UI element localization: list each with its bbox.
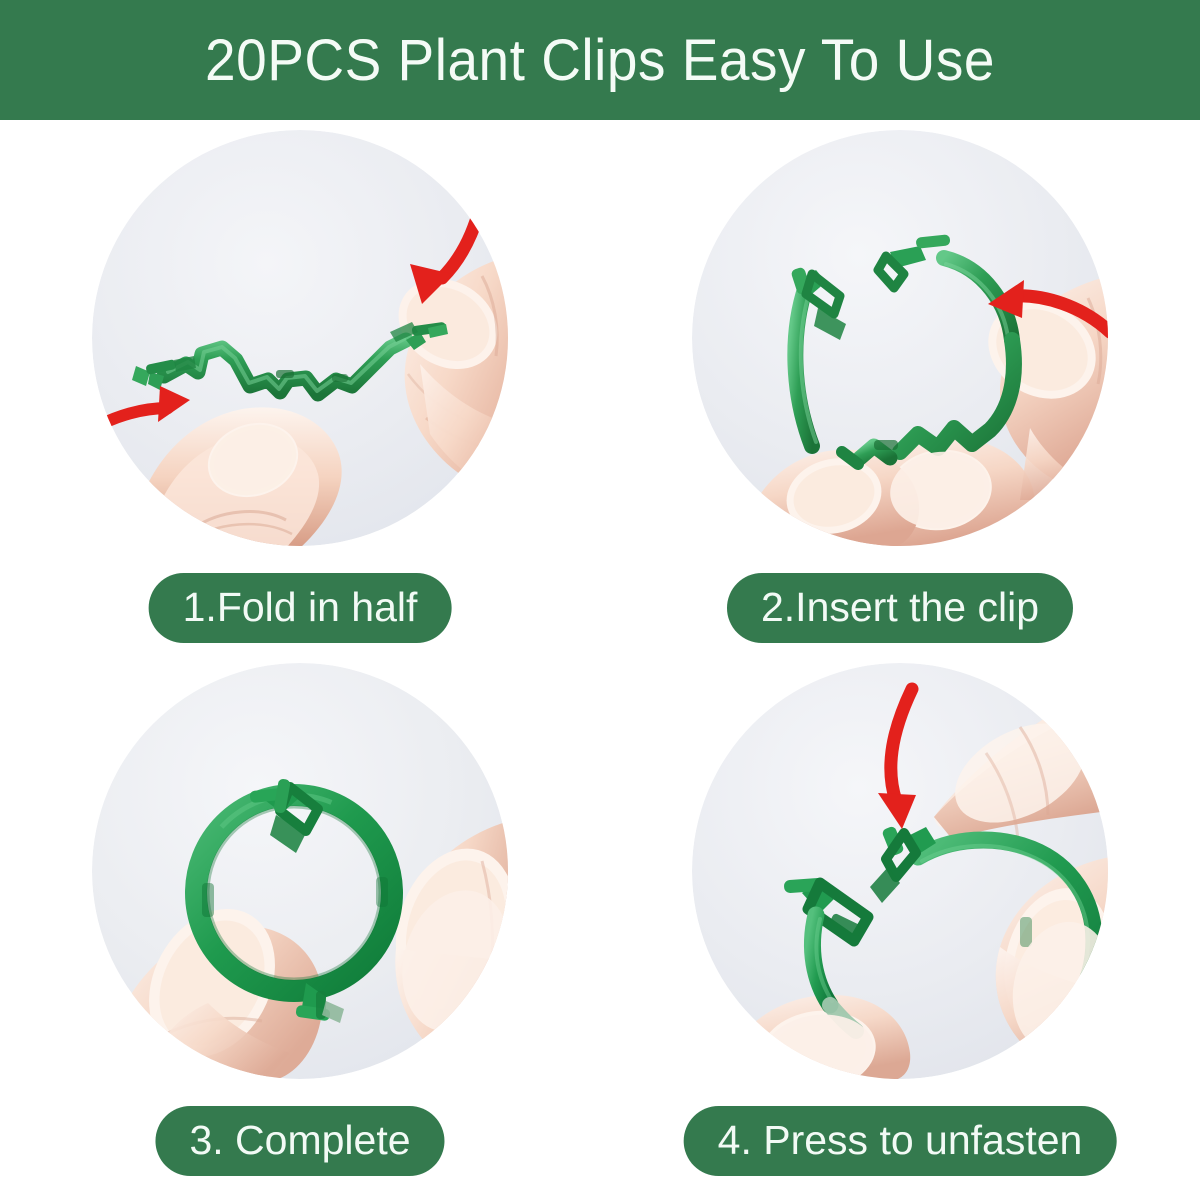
photo-content-2	[692, 130, 1110, 548]
step-card-2: 2.Insert the clip	[600, 120, 1200, 653]
photo-content-1	[92, 130, 510, 548]
step-card-1: 1.Fold in half	[0, 120, 600, 653]
step-2-photo	[690, 128, 1110, 548]
step-2-label-pill: 2.Insert the clip	[727, 573, 1073, 643]
photo-content-3	[92, 663, 510, 1081]
step-3-label-pill: 3. Complete	[155, 1106, 444, 1176]
step-card-3: 3. Complete	[0, 653, 600, 1186]
step-1-label: 1.Fold in half	[183, 587, 418, 628]
step-4-label-pill: 4. Press to unfasten	[684, 1106, 1117, 1176]
step-2-label: 2.Insert the clip	[761, 587, 1039, 628]
page-title: 20PCS Plant Clips Easy To Use	[205, 31, 995, 89]
steps-grid: 1.Fold in half	[0, 120, 1200, 1186]
step-3-label: 3. Complete	[189, 1120, 410, 1161]
step-card-4: 4. Press to unfasten	[600, 653, 1200, 1186]
photo-content-4	[692, 663, 1110, 1081]
step-4-label: 4. Press to unfasten	[718, 1120, 1083, 1161]
step-4-photo	[690, 661, 1110, 1081]
step-3-photo	[90, 661, 510, 1081]
header-banner: 20PCS Plant Clips Easy To Use	[0, 0, 1200, 120]
step-1-label-pill: 1.Fold in half	[149, 573, 452, 643]
step-1-photo	[90, 128, 510, 548]
